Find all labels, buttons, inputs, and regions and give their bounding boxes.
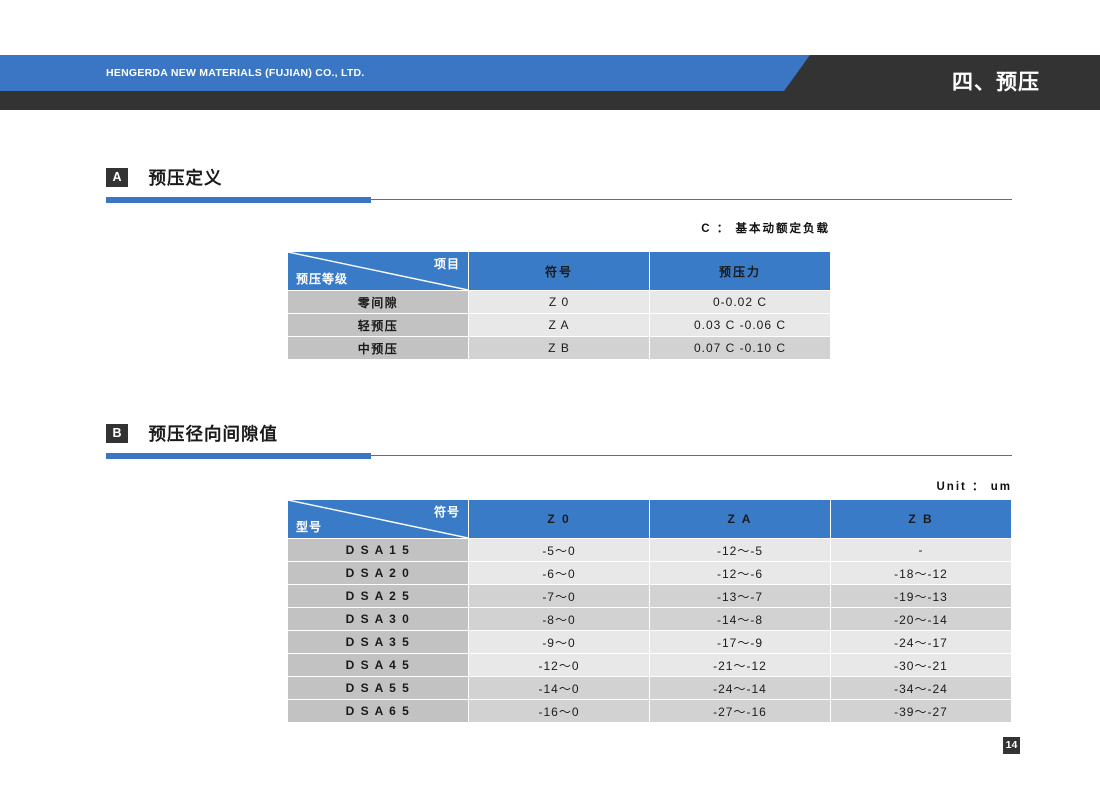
table1-note: C ： 基本动额定负载 (400, 220, 830, 236)
table1-header-symbol: 符号 (469, 252, 649, 290)
table-row: D S A 2 5 -7～0 -13～-7 -19～-13 (288, 585, 1011, 607)
table2-row3-z0: -8～0 (469, 608, 649, 630)
table2-row4-zb: -24～-17 (831, 631, 1011, 653)
table2-unit-note: Unit ： um (560, 478, 1012, 494)
table2-row2-model: D S A 2 5 (288, 585, 468, 607)
table2-row4-za: -17～-9 (650, 631, 830, 653)
table1-header-force: 预压力 (650, 252, 830, 290)
table-row: D S A 6 5 -16～0 -27～-16 -39～-27 (288, 700, 1011, 722)
table2-row6-za: -24～-14 (650, 677, 830, 699)
table2-body: D S A 1 5 -5～0 -12～-5 - D S A 2 0 -6～0 -… (288, 539, 1011, 722)
table2-row7-model: D S A 6 5 (288, 700, 468, 722)
table-row: 轻预压 Z A 0.03 C -0.06 C (288, 314, 830, 336)
table1-head: 项目 预压等级 符号 预压力 (288, 252, 830, 290)
preload-definition-table: 项目 预压等级 符号 预压力 零间隙 Z 0 0-0.02 C 轻预压 Z A … (287, 251, 831, 360)
chapter-title: 四、预压 (952, 55, 1040, 110)
table2-header-row: 符号 型号 Z 0 Z A Z B (288, 500, 1011, 538)
table1-body: 零间隙 Z 0 0-0.02 C 轻预压 Z A 0.03 C -0.06 C … (288, 291, 830, 359)
table2-corner-cell: 符号 型号 (288, 500, 468, 538)
table1-row0-force: 0-0.02 C (650, 291, 830, 313)
section-b-rule-thick (106, 453, 371, 459)
table2-row1-za: -12～-6 (650, 562, 830, 584)
table2-row4-z0: -9～0 (469, 631, 649, 653)
table2-row6-z0: -14～0 (469, 677, 649, 699)
table1-header-row: 项目 预压等级 符号 预压力 (288, 252, 830, 290)
table2-row2-z0: -7～0 (469, 585, 649, 607)
table1-row2-label: 中预压 (288, 337, 468, 359)
table2-row7-z0: -16～0 (469, 700, 649, 722)
table-row: D S A 5 5 -14～0 -24～-14 -34～-24 (288, 677, 1011, 699)
table1-row2-force: 0.07 C -0.10 C (650, 337, 830, 359)
table1-row2-symbol: Z B (469, 337, 649, 359)
table2-corner-bottom-left: 型号 (296, 518, 322, 535)
section-b-heading: B 预压径向间隙值 (106, 421, 1012, 449)
table-row: 中预压 Z B 0.07 C -0.10 C (288, 337, 830, 359)
table-row: 零间隙 Z 0 0-0.02 C (288, 291, 830, 313)
section-a-heading: A 预压定义 (106, 165, 1012, 193)
table-row: D S A 4 5 -12～0 -21～-12 -30～-21 (288, 654, 1011, 676)
table2-row1-zb: -18～-12 (831, 562, 1011, 584)
section-b-title: 预压径向间隙值 (148, 421, 278, 446)
section-b-badge: B (106, 424, 128, 443)
table1-row1-force: 0.03 C -0.06 C (650, 314, 830, 336)
section-b-rule (106, 453, 1012, 459)
table-row: D S A 3 5 -9～0 -17～-9 -24～-17 (288, 631, 1011, 653)
table2-row3-zb: -20～-14 (831, 608, 1011, 630)
table2-container: 符号 型号 Z 0 Z A Z B D S A 1 5 -5～0 -12～-5 … (287, 499, 1012, 723)
section-a-badge: A (106, 168, 128, 187)
table2-head: 符号 型号 Z 0 Z A Z B (288, 500, 1011, 538)
table2-row1-model: D S A 2 0 (288, 562, 468, 584)
table1-row0-symbol: Z 0 (469, 291, 649, 313)
table2-header-za: Z A (650, 500, 830, 538)
table1-row1-label: 轻预压 (288, 314, 468, 336)
table1-row0-label: 零间隙 (288, 291, 468, 313)
table1-container: 项目 预压等级 符号 预压力 零间隙 Z 0 0-0.02 C 轻预压 Z A … (287, 251, 831, 360)
table2-row0-zb: - (831, 539, 1011, 561)
section-a-rule-thick (106, 197, 371, 203)
section-b: B 预压径向间隙值 (106, 421, 1012, 459)
table1-corner-top-right: 项目 (434, 255, 460, 272)
table1-corner-bottom-left: 预压等级 (296, 270, 348, 287)
page-number: 14 (1003, 737, 1020, 754)
table2-row0-z0: -5～0 (469, 539, 649, 561)
table2-row0-model: D S A 1 5 (288, 539, 468, 561)
section-a-rule (106, 197, 1012, 203)
table2-row2-zb: -19～-13 (831, 585, 1011, 607)
table-row: D S A 3 0 -8～0 -14～-8 -20～-14 (288, 608, 1011, 630)
table2-row5-model: D S A 4 5 (288, 654, 468, 676)
table2-row1-z0: -6～0 (469, 562, 649, 584)
table2-row6-model: D S A 5 5 (288, 677, 468, 699)
company-name: HENGERDA NEW MATERIALS (FUJIAN) CO., LTD… (106, 55, 365, 91)
table2-row0-za: -12～-5 (650, 539, 830, 561)
table2-header-zb: Z B (831, 500, 1011, 538)
table2-row5-zb: -30～-21 (831, 654, 1011, 676)
table-row: D S A 1 5 -5～0 -12～-5 - (288, 539, 1011, 561)
table2-corner-top-right: 符号 (434, 503, 460, 520)
page-header: HENGERDA NEW MATERIALS (FUJIAN) CO., LTD… (0, 55, 1100, 110)
table2-row4-model: D S A 3 5 (288, 631, 468, 653)
table1-row1-symbol: Z A (469, 314, 649, 336)
table2-row6-zb: -34～-24 (831, 677, 1011, 699)
table2-row5-za: -21～-12 (650, 654, 830, 676)
radial-clearance-table: 符号 型号 Z 0 Z A Z B D S A 1 5 -5～0 -12～-5 … (287, 499, 1012, 723)
table2-row7-za: -27～-16 (650, 700, 830, 722)
section-a: A 预压定义 (106, 165, 1012, 203)
table2-row3-model: D S A 3 0 (288, 608, 468, 630)
table2-row5-z0: -12～0 (469, 654, 649, 676)
table2-row3-za: -14～-8 (650, 608, 830, 630)
table2-row7-zb: -39～-27 (831, 700, 1011, 722)
table2-header-z0: Z 0 (469, 500, 649, 538)
table1-corner-cell: 项目 预压等级 (288, 252, 468, 290)
table2-row2-za: -13～-7 (650, 585, 830, 607)
section-a-title: 预压定义 (148, 165, 222, 190)
table-row: D S A 2 0 -6～0 -12～-6 -18～-12 (288, 562, 1011, 584)
